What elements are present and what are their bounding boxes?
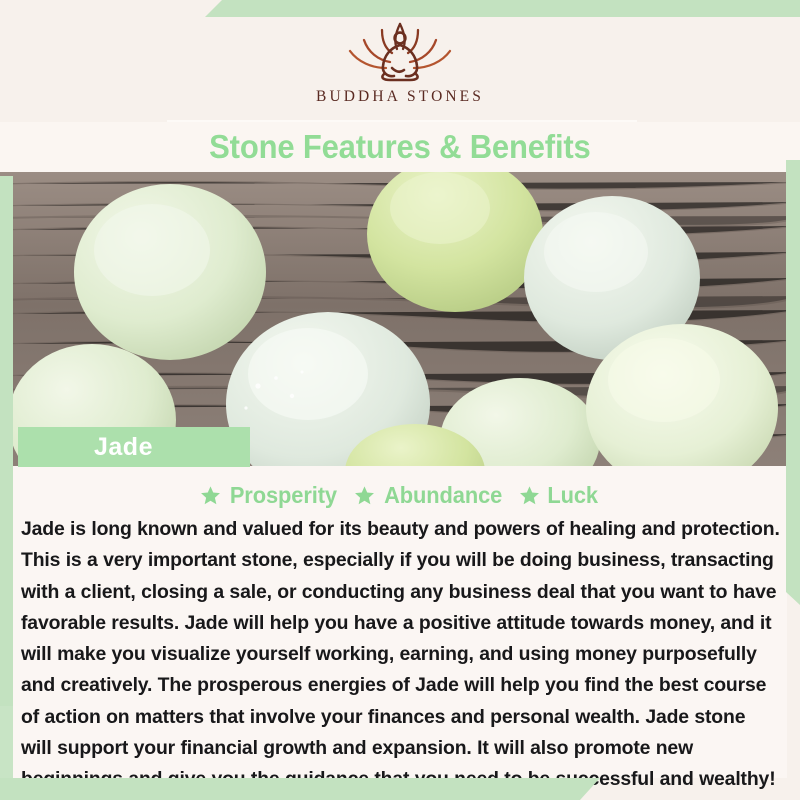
page-title: Stone Features & Benefits — [209, 128, 590, 166]
frame-stripe-left — [0, 176, 13, 706]
star-icon — [200, 485, 221, 506]
frame-band-bottom — [0, 778, 600, 800]
frame-stripe-right — [786, 160, 800, 605]
benefit-item: Abundance — [354, 482, 505, 509]
brand-header: BUDDHA STONES — [0, 0, 800, 122]
benefits-row: Prosperity Abundance Luck — [13, 466, 787, 510]
stone-photo — [0, 172, 800, 466]
benefit-item: Luck — [519, 482, 599, 509]
stone-description: Jade is long known and valued for its be… — [13, 510, 787, 796]
stone-name-bar: Jade — [18, 427, 250, 467]
lotus-meditation-icon — [340, 18, 460, 84]
benefit-item: Prosperity — [200, 482, 340, 509]
content-panel: Prosperity Abundance Luck Jade is long k… — [13, 466, 787, 778]
benefit-label: Abundance — [384, 482, 502, 509]
frame-band-top — [205, 0, 800, 17]
star-icon — [519, 485, 540, 506]
stone-photo-illustration — [0, 172, 800, 466]
infographic-card: BUDDHA STONES Stone Features & Benefits … — [0, 0, 800, 800]
title-banner: Stone Features & Benefits — [0, 122, 800, 172]
brand-name: BUDDHA STONES — [316, 88, 484, 106]
star-icon — [354, 485, 375, 506]
stone-name-label: Jade — [18, 435, 153, 460]
benefit-label: Luck — [548, 482, 599, 509]
benefit-label: Prosperity — [230, 482, 337, 509]
